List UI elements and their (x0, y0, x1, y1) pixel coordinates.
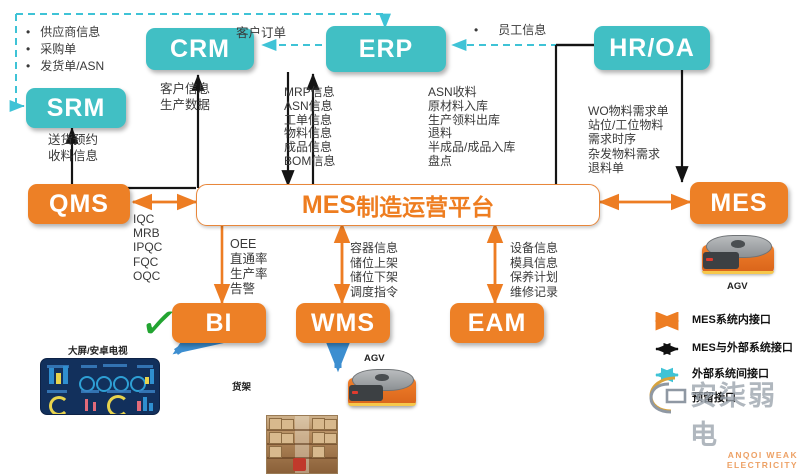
legend-item-external: MES与外部系统接口 (692, 342, 793, 355)
annotation-employee-bullets: • 员工信息 (474, 22, 546, 39)
platform-label-cn: 制造运营平台 (356, 188, 494, 222)
platform-label-en: MES (302, 191, 356, 220)
annotation-supplier-bullets: • 供应商信息 • 采购单 • 发货单/ASN (26, 24, 104, 75)
node-crm-label: CRM (170, 35, 230, 64)
green-check-icon: ✓ (137, 298, 182, 349)
node-qms[interactable]: QMS (28, 184, 130, 224)
node-srm[interactable]: SRM (26, 88, 126, 128)
node-mes-right-label: MES (710, 189, 767, 218)
annotation-eam-side: 设备信息 模具信息 保养计划 维修记录 (510, 241, 558, 299)
agv-robot-wms-image (348, 366, 416, 410)
watermark-en: ANQOI WEAK ELECTRICITY (690, 450, 798, 470)
node-qms-label: QMS (49, 190, 109, 219)
annotation-wms-side: 容器信息 储位上架 储位下架 调度指令 (350, 241, 398, 299)
annotation-customer-order: 客户订单 (236, 26, 286, 40)
caption-shelf: 货架 (232, 381, 251, 395)
caption-agv-wms: AGV (364, 352, 385, 366)
annotation-erp-up: ASN收料 原材料入库 生产领料出库 退料 半成品/成品入库 盘点 (428, 86, 515, 169)
node-mes-platform[interactable]: MES制造运营平台 (196, 184, 600, 226)
node-bi-label: BI (206, 309, 233, 338)
annotation-hroa-side: WO物料需求单 站位/工位物料 需求时序 杂发物料需求 退料单 (588, 104, 669, 175)
node-hroa-label: HR/OA (609, 34, 695, 63)
node-hroa[interactable]: HR/OA (594, 26, 710, 70)
node-eam-label: EAM (468, 309, 527, 338)
node-srm-label: SRM (47, 94, 106, 123)
node-erp[interactable]: ERP (326, 26, 446, 72)
caption-agv-mes: AGV (727, 280, 748, 294)
annotation-qms-side: IQC MRB IPQC FQC OQC (133, 212, 162, 283)
annotation-crm-up: 客户信息 生产数据 (160, 82, 210, 113)
warehouse-shelf-image (266, 415, 338, 474)
annotation-erp-down: MRP信息 ASN信息 工单信息 物料信息 成品信息 BOM信息 (284, 86, 335, 169)
annotation-bi-side: OEE 直通率 生产率 告警 (230, 237, 268, 297)
diagram-canvas: CRM ERP HR/OA SRM QMS MES制造运营平台 MES BI W… (0, 0, 800, 423)
node-wms-label: WMS (311, 309, 375, 338)
dashboard-tv-image (40, 358, 160, 415)
node-erp-label: ERP (359, 35, 413, 64)
node-wms[interactable]: WMS (296, 303, 390, 343)
legend-item-internal: MES系统内接口 (692, 314, 771, 327)
node-mes-right[interactable]: MES (690, 182, 788, 224)
watermark: 安柒弱电 ANQOI WEAK ELECTRICITY (690, 374, 798, 470)
node-bi[interactable]: BI (172, 303, 266, 343)
agv-robot-mes-image (702, 232, 774, 278)
watermark-cn: 安柒弱电 (690, 374, 798, 452)
annotation-srm-up: 送货预约 收料信息 (48, 133, 98, 164)
node-eam[interactable]: EAM (450, 303, 544, 343)
